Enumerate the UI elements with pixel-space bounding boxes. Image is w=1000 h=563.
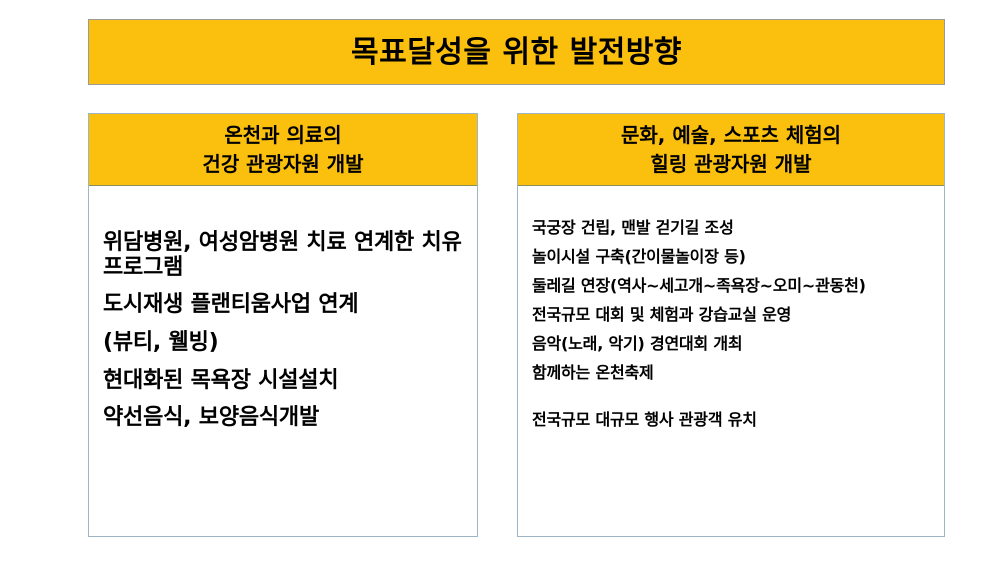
list-item: 위담병원, 여성암병원 치료 연계한 치유 프로그램: [103, 231, 467, 280]
panel-header-line-1: 온천과 의료의: [224, 121, 341, 150]
list-item: (뷰티, 웰빙): [103, 331, 467, 356]
panel-header-line-1: 문화, 예술, 스포츠 체험의: [621, 121, 841, 150]
list-item: 전국규모 대규모 행사 관광객 유치: [532, 412, 936, 428]
slide-title: 목표달성을 위한 발전방향: [351, 36, 682, 69]
panel-health-tourism: 온천과 의료의 건강 관광자원 개발 위담병원, 여성암병원 치료 연계한 치유…: [88, 113, 478, 537]
slide-canvas: 목표달성을 위한 발전방향 온천과 의료의 건강 관광자원 개발 위담병원, 여…: [0, 0, 1000, 563]
list-item: 약선음식, 보양음식개발: [103, 406, 467, 431]
panel-healing-tourism: 문화, 예술, 스포츠 체험의 힐링 관광자원 개발 국궁장 건립, 맨발 걷기…: [517, 113, 945, 537]
list-item: 음악(노래, 악기) 경연대회 개최: [532, 336, 936, 352]
list-item: 놀이시설 구축(간이물놀이장 등): [532, 249, 936, 265]
panel-header-healing-tourism: 문화, 예술, 스포츠 체험의 힐링 관광자원 개발: [518, 114, 944, 186]
list-item: 도시재생 플랜티움사업 연계: [103, 293, 467, 318]
panel-header-line-2: 힐링 관광자원 개발: [650, 150, 811, 179]
panel-body-health-tourism: 위담병원, 여성암병원 치료 연계한 치유 프로그램 도시재생 플랜티움사업 연…: [89, 186, 477, 536]
list-item: 함께하는 온천축제: [532, 365, 936, 381]
list-item: 전국규모 대회 및 체험과 강습교실 운영: [532, 307, 936, 323]
list-item: 현대화된 목욕장 시설설치: [103, 369, 467, 394]
slide-title-banner: 목표달성을 위한 발전방향: [88, 19, 945, 85]
list-item: 둘레길 연장(역사~세고개~족욕장~오미~관동천): [532, 278, 936, 294]
list-item: 국궁장 건립, 맨발 걷기길 조성: [532, 220, 936, 236]
panel-header-line-2: 건강 관광자원 개발: [202, 150, 363, 179]
panel-header-health-tourism: 온천과 의료의 건강 관광자원 개발: [89, 114, 477, 186]
panel-body-healing-tourism: 국궁장 건립, 맨발 걷기길 조성 놀이시설 구축(간이물놀이장 등) 둘레길 …: [518, 186, 944, 536]
